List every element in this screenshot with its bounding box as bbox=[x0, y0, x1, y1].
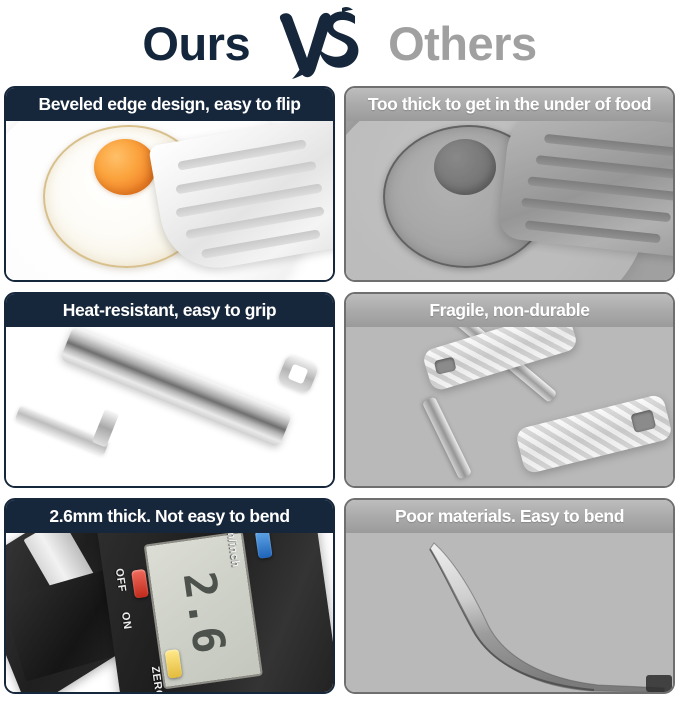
panel-ours-thickness: 2.6mm thick. Not easy to bend 2.6 mm mm/… bbox=[4, 498, 335, 694]
caliper-off-label: OFF bbox=[113, 568, 128, 593]
panel-ours-beveled-edge: Beveled edge design, easy to flip bbox=[4, 86, 335, 282]
silicone-grip-sleeve-upper bbox=[421, 327, 579, 392]
comparison-row-2: Heat-resistant, easy to grip Fragile, no… bbox=[4, 292, 675, 488]
panel-others-too-thick: Too thick to get in the under of food bbox=[344, 86, 675, 282]
comparison-row-1: Beveled edge design, easy to flip Too t bbox=[4, 86, 675, 282]
caliper-off-button[interactable] bbox=[131, 569, 149, 599]
header-banner: Ours Others bbox=[0, 0, 679, 86]
photo-steel-handle bbox=[6, 327, 333, 486]
panel-ours-heat-resistant: Heat-resistant, easy to grip bbox=[4, 292, 335, 488]
panel-caption-ours-2: Heat-resistant, easy to grip bbox=[6, 294, 333, 327]
ours-title: Ours bbox=[142, 20, 250, 67]
caliper-mminch-button[interactable] bbox=[255, 533, 273, 559]
panel-caption-others-2: Fragile, non-durable bbox=[346, 294, 673, 327]
panel-caption-others-3: Poor materials. Easy to bend bbox=[346, 500, 673, 533]
photo-gray-egg-thick-spatula bbox=[346, 121, 673, 280]
caliper-unit-label: mm bbox=[255, 648, 263, 666]
handle-collar-shape bbox=[92, 409, 119, 448]
spatula-slot bbox=[525, 220, 661, 243]
spatula-slot bbox=[536, 155, 673, 179]
panel-caption-ours-1: Beveled edge design, easy to flip bbox=[6, 88, 333, 121]
others-title: Others bbox=[388, 20, 537, 67]
spatula-slot bbox=[521, 198, 671, 223]
photo-digital-caliper: 2.6 mm mm/inch OFF ON ZERO bbox=[6, 533, 333, 692]
comparison-row-3: 2.6mm thick. Not easy to bend 2.6 mm mm/… bbox=[4, 498, 675, 694]
grip-hole bbox=[434, 357, 457, 375]
photo-broken-grips bbox=[346, 327, 673, 486]
panel-others-easy-to-bend: Poor materials. Easy to bend bbox=[344, 498, 675, 694]
comparison-infographic: Ours Others Beveled edge de bbox=[0, 0, 679, 704]
caliper-body: 2.6 mm mm/inch OFF ON ZERO bbox=[97, 533, 333, 692]
caliper-on-label: ON bbox=[119, 611, 133, 630]
thick-spatula-head bbox=[498, 121, 673, 260]
handle-tube-shape bbox=[60, 327, 292, 448]
photo-bent-blade bbox=[346, 533, 673, 692]
photo-fried-egg-spatula bbox=[6, 121, 333, 280]
caliper-lcd-screen: 2.6 mm bbox=[144, 533, 263, 689]
panel-others-fragile: Fragile, non-durable bbox=[344, 292, 675, 488]
spatula-slot bbox=[527, 176, 673, 201]
grip-hole bbox=[630, 409, 656, 433]
bare-metal-shaft-lower bbox=[422, 396, 472, 479]
hang-hole-loop bbox=[277, 354, 320, 395]
spatula-slot bbox=[544, 134, 673, 157]
egg-yolk-shape bbox=[434, 139, 496, 195]
caliper-measurement-value: 2.6 bbox=[173, 569, 235, 658]
egg-yolk-shape bbox=[94, 139, 156, 195]
panel-caption-others-1: Too thick to get in the under of food bbox=[346, 88, 673, 121]
silicone-grip-sleeve-lower bbox=[515, 393, 673, 474]
comparison-grid: Beveled edge design, easy to flip Too t bbox=[0, 86, 679, 700]
vs-brushstroke-icon bbox=[276, 6, 362, 80]
panel-caption-ours-3: 2.6mm thick. Not easy to bend bbox=[6, 500, 333, 533]
